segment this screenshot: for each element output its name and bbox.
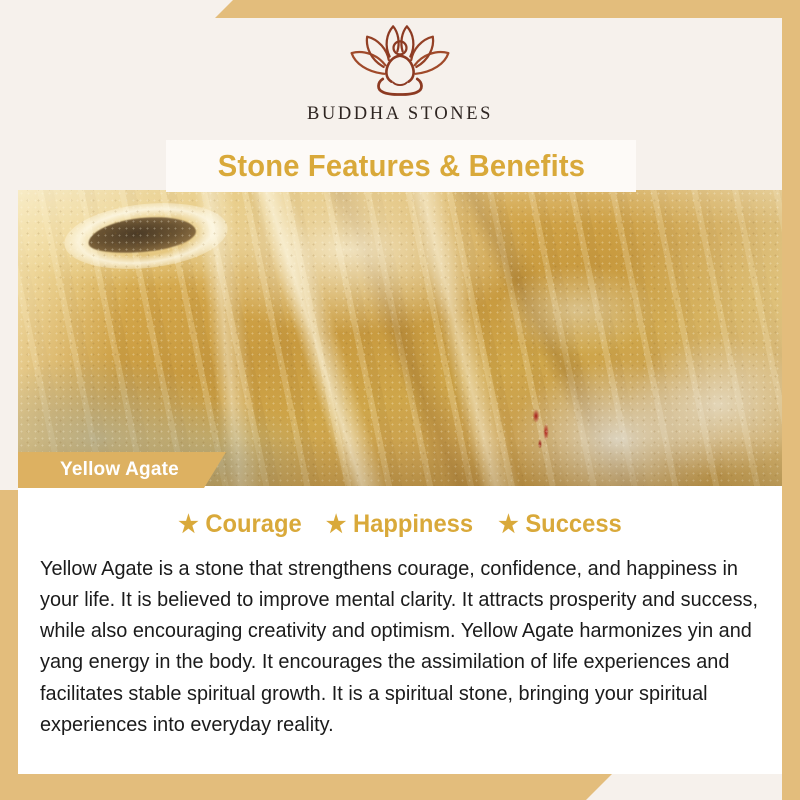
lotus-meditation-figure-icon [348, 22, 452, 98]
benefit-item: ★ Happiness [326, 510, 473, 539]
page-title: Stone Features & Benefits [217, 148, 584, 184]
stone-vignette-layer [18, 190, 782, 486]
brand-name: BUDDHA STONES [307, 104, 493, 125]
title-banner: Stone Features & Benefits [166, 140, 636, 192]
benefit-item: ★ Success [499, 510, 622, 539]
frame-band-left [0, 490, 18, 800]
star-icon: ★ [499, 513, 519, 537]
frame-band-right [782, 0, 800, 800]
star-icon: ★ [178, 513, 198, 537]
stone-photo [18, 190, 782, 486]
benefit-label: Happiness [353, 510, 473, 539]
content-panel: ★ Courage ★ Happiness ★ Success Yellow A… [18, 486, 782, 774]
stone-name-tag: Yellow Agate [18, 452, 226, 488]
frame-band-top [215, 0, 800, 18]
benefits-row: ★ Courage ★ Happiness ★ Success [40, 510, 760, 539]
stone-name-label: Yellow Agate [60, 459, 179, 481]
benefit-label: Success [526, 510, 622, 539]
poster-root: BUDDHA STONES Stone Features & Benefits … [0, 0, 800, 800]
benefit-label: Courage [205, 510, 301, 539]
frame-band-bottom [0, 774, 612, 800]
brand-header: BUDDHA STONES [0, 0, 800, 144]
benefit-item: ★ Courage [178, 510, 301, 539]
star-icon: ★ [326, 513, 346, 537]
stone-description: Yellow Agate is a stone that strengthens… [40, 553, 759, 740]
